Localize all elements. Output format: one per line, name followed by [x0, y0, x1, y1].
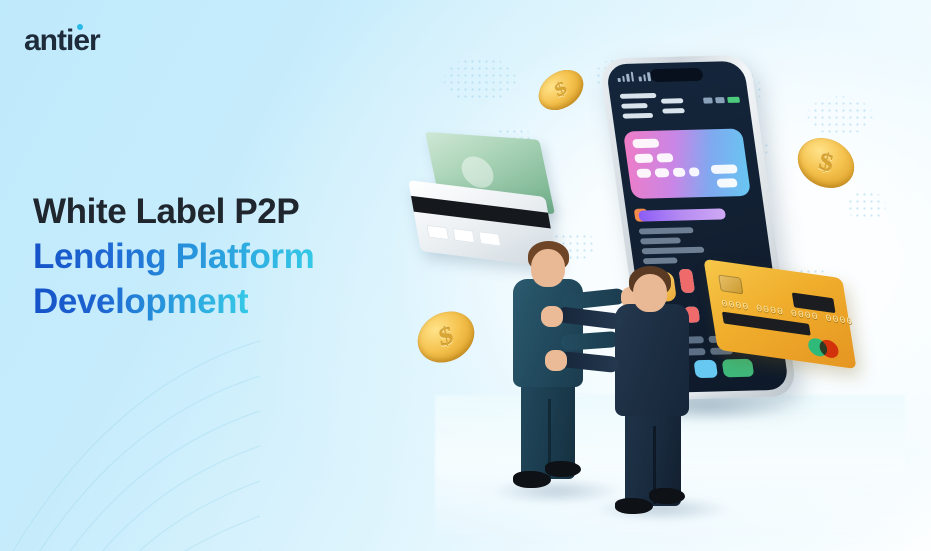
page-title: White Label P2P Lending Platform Develop… [33, 190, 314, 324]
marketing-banner: antier White Label P2P Lending Platform … [0, 0, 931, 551]
headline-line-3: Development [33, 280, 248, 325]
phone-status-right-icons [703, 97, 740, 104]
hero-illustration: $ [395, 0, 931, 551]
phone-status-bar-icons [617, 71, 651, 82]
brand-logo-text: antier [24, 26, 100, 56]
white-card-signature-boxes [426, 225, 501, 247]
corner-arc-lines-decoration [0, 331, 260, 551]
gold-card-chip-icon [718, 274, 743, 294]
dollar-coin-icon: $ [533, 62, 589, 118]
battery-icon [727, 97, 740, 103]
phone-notch [649, 68, 703, 82]
wifi-icon [703, 97, 713, 103]
phone-header-bars [620, 93, 660, 119]
phone-header-bars-2 [661, 98, 685, 113]
businessman-right-illustration [603, 258, 715, 516]
white-card-magnetic-stripe [411, 196, 551, 229]
signal-icon [715, 97, 725, 103]
phone-purple-progress-bar [638, 208, 726, 221]
brand-logo[interactable]: antier [24, 26, 100, 56]
headline-line-1: White Label P2P [33, 192, 299, 231]
card-network-logo-icon [807, 337, 845, 360]
headline-line-2: Lending Platform [33, 235, 314, 280]
brand-logo-accent-dot [77, 24, 83, 30]
phone-gradient-card [623, 128, 751, 198]
dollar-coin-icon: $ [414, 305, 478, 369]
dollar-coin-icon: $ [793, 131, 859, 195]
